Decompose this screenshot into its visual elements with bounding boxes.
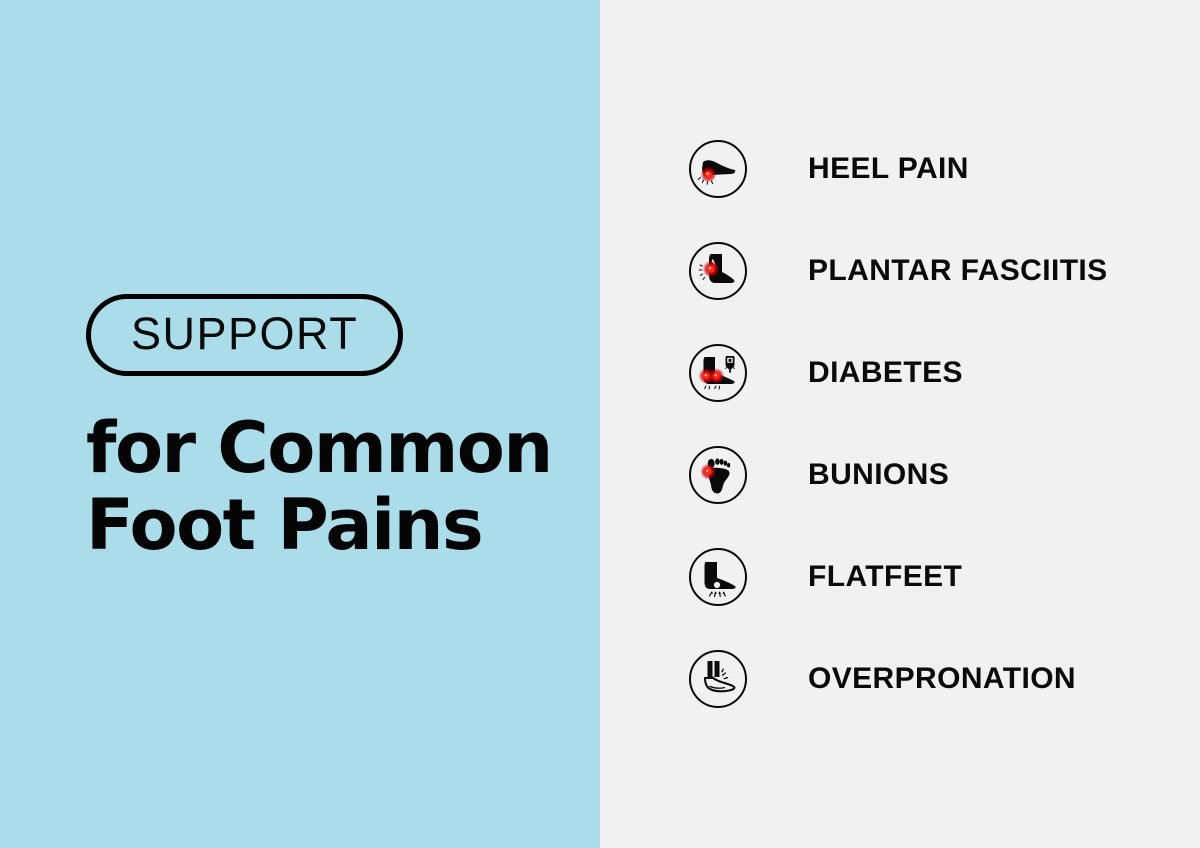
list-item: HEEL PAIN bbox=[689, 140, 1159, 198]
diabetes-foot-glucometer-icon bbox=[689, 344, 747, 402]
list-item: FLATFEET bbox=[689, 548, 1159, 606]
overpronation-ankle-icon bbox=[689, 650, 747, 708]
list-item-label: BUNIONS bbox=[808, 460, 949, 490]
page-title: for Common Foot Pains bbox=[86, 410, 556, 564]
list-item: OVERPRONATION bbox=[689, 650, 1159, 708]
page-title-line-2: Foot Pains bbox=[86, 487, 556, 564]
support-badge-label: SUPPORT bbox=[131, 311, 358, 356]
left-panel: SUPPORT for Common Foot Pains bbox=[0, 0, 600, 848]
support-badge: SUPPORT bbox=[86, 294, 403, 376]
list-item-label: FLATFEET bbox=[808, 562, 962, 592]
left-content-block: SUPPORT for Common Foot Pains bbox=[86, 294, 556, 564]
plantar-fasciitis-foot-icon bbox=[689, 242, 747, 300]
list-item-label: PLANTAR FASCIITIS bbox=[808, 256, 1108, 286]
list-item: PLANTAR FASCIITIS bbox=[689, 242, 1159, 300]
page-title-line-1: for Common bbox=[86, 410, 556, 487]
bunion-footprint-icon bbox=[689, 446, 747, 504]
heel-pain-foot-icon bbox=[689, 140, 747, 198]
poster-root: SUPPORT for Common Foot Pains bbox=[0, 0, 1200, 848]
right-panel: HEEL PAIN bbox=[600, 0, 1200, 848]
list-item: DIABETES bbox=[689, 344, 1159, 402]
list-item-label: HEEL PAIN bbox=[808, 154, 969, 184]
list-item-label: DIABETES bbox=[808, 358, 963, 388]
list-item-label: OVERPRONATION bbox=[808, 664, 1076, 694]
foot-condition-list: HEEL PAIN bbox=[689, 140, 1159, 708]
list-item: BUNIONS bbox=[689, 446, 1159, 504]
flatfoot-arch-icon bbox=[689, 548, 747, 606]
